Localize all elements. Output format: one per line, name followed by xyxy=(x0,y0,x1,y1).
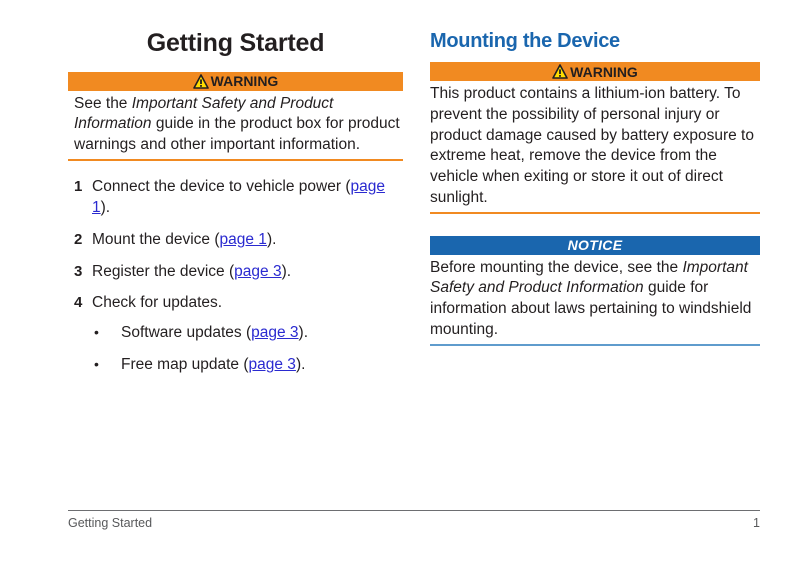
warning-bar: WARNING xyxy=(430,62,760,81)
sub-item-text: Software updates (page 3). xyxy=(121,323,403,344)
section-heading-mounting: Mounting the Device xyxy=(430,30,760,53)
notice-box-mounting: NOTICE Before mounting the device, see t… xyxy=(430,236,760,346)
footer-page-number: 1 xyxy=(753,516,760,530)
step-text-before: Check for updates. xyxy=(92,294,222,311)
warning-triangle-icon xyxy=(552,64,568,79)
sub-bullet-list: • Software updates (page 3). • Free map … xyxy=(92,323,403,376)
step-number: 1 xyxy=(68,177,92,219)
step-text: Check for updates. • Software updates (p… xyxy=(92,293,403,387)
list-item: 2 Mount the device (page 1). xyxy=(68,230,403,251)
two-column-layout: Getting Started WARNING See the Importan… xyxy=(0,0,798,398)
warning-label: WARNING xyxy=(211,74,279,88)
footer-section-label: Getting Started xyxy=(68,516,152,530)
step-text-before: Mount the device ( xyxy=(92,231,220,248)
warning-box-safety: WARNING See the Important Safety and Pro… xyxy=(68,72,403,161)
step-text-after: ). xyxy=(267,231,276,248)
step-number: 2 xyxy=(68,230,92,251)
sub-item-text: Free map update (page 3). xyxy=(121,355,403,376)
list-item: 4 Check for updates. • Software updates … xyxy=(68,293,403,387)
step-text: Mount the device (page 1). xyxy=(92,230,403,251)
right-column: Mounting the Device WARNING This product… xyxy=(403,0,798,398)
step-number: 3 xyxy=(68,262,92,283)
warning-box-battery: WARNING This product contains a lithium-… xyxy=(430,62,760,214)
warning-rule xyxy=(68,159,403,161)
warning-body-safety: See the Important Safety and Product Inf… xyxy=(68,91,403,159)
step-number: 4 xyxy=(68,293,92,387)
warning-body-lead: See the xyxy=(74,95,132,112)
page-reference-link[interactable]: page 3 xyxy=(249,356,296,373)
step-text-before: Register the device ( xyxy=(92,263,234,280)
bullet-icon: • xyxy=(92,323,121,344)
notice-body: Before mounting the device, see the Impo… xyxy=(430,255,760,344)
page-reference-link[interactable]: page 3 xyxy=(251,324,298,341)
notice-body-lead: Before mounting the device, see the xyxy=(430,259,682,276)
warning-triangle-icon xyxy=(193,74,209,89)
page-title: Getting Started xyxy=(68,30,403,58)
left-column: Getting Started WARNING See the Importan… xyxy=(0,0,403,398)
list-item: • Software updates (page 3). xyxy=(92,323,403,344)
notice-bar: NOTICE xyxy=(430,236,760,255)
page-footer: Getting Started 1 xyxy=(68,510,760,530)
sub-text-before: Free map update ( xyxy=(121,356,249,373)
page-reference-link[interactable]: page 1 xyxy=(220,231,267,248)
step-text-before: Connect the device to vehicle power ( xyxy=(92,178,350,195)
notice-rule xyxy=(430,344,760,346)
notice-label: NOTICE xyxy=(568,238,623,252)
bullet-icon: • xyxy=(92,355,121,376)
step-text: Register the device (page 3). xyxy=(92,262,403,283)
sub-text-after: ). xyxy=(296,356,305,373)
warning-rule xyxy=(430,212,760,214)
warning-bar: WARNING xyxy=(68,72,403,91)
list-item: • Free map update (page 3). xyxy=(92,355,403,376)
warning-body-battery: This product contains a lithium-ion batt… xyxy=(430,81,760,212)
warning-label: WARNING xyxy=(570,65,638,79)
document-page: Getting Started WARNING See the Importan… xyxy=(0,0,798,562)
page-reference-link[interactable]: page 3 xyxy=(234,263,281,280)
step-text-after: ). xyxy=(282,263,291,280)
sub-text-after: ). xyxy=(299,324,308,341)
footer-row: Getting Started 1 xyxy=(68,511,760,530)
step-text: Connect the device to vehicle power (pag… xyxy=(92,177,403,219)
list-item: 1 Connect the device to vehicle power (p… xyxy=(68,177,403,219)
step-text-after: ). xyxy=(101,199,110,216)
list-item: 3 Register the device (page 3). xyxy=(68,262,403,283)
sub-text-before: Software updates ( xyxy=(121,324,251,341)
procedure-step-list: 1 Connect the device to vehicle power (p… xyxy=(68,177,403,387)
